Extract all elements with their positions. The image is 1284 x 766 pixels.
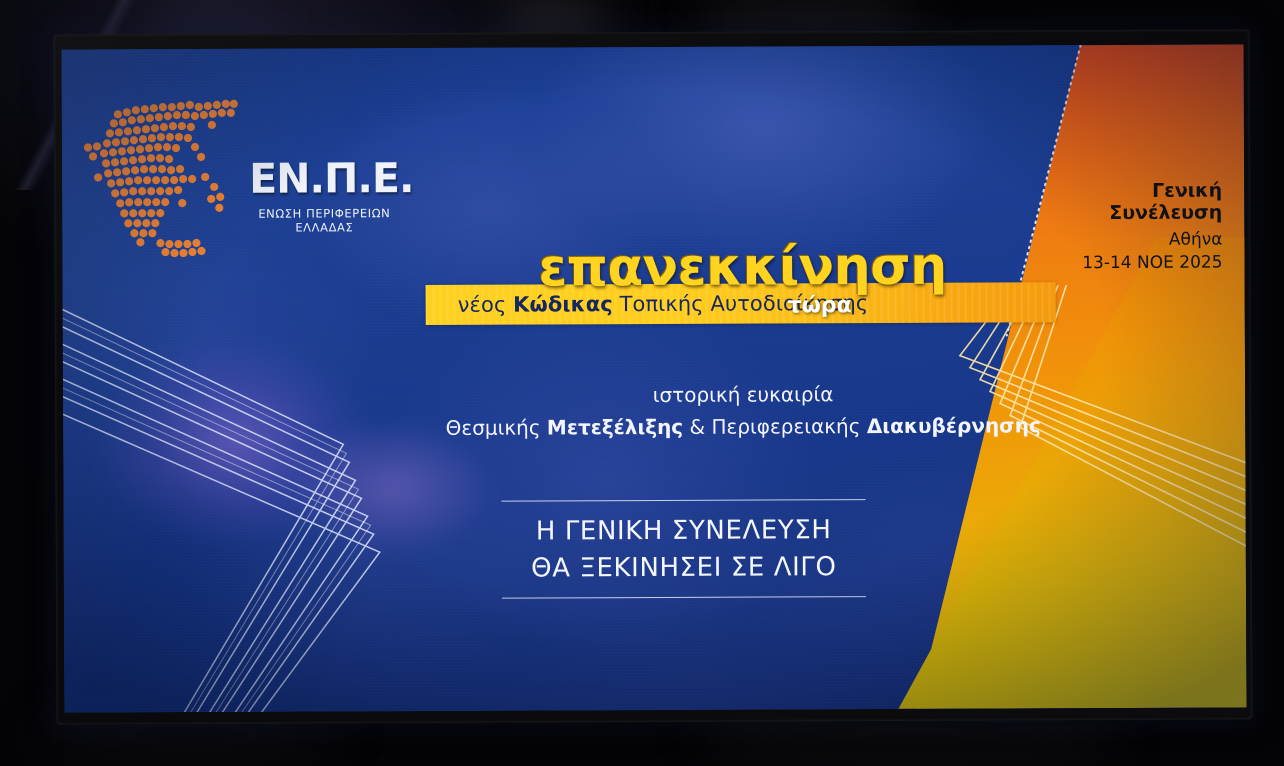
event-city: Αθήνα xyxy=(1012,227,1222,253)
headline-block: επανεκκίνηση τώρα xyxy=(362,240,1122,295)
greece-dotted-map-icon xyxy=(82,81,258,272)
status-line2: ΘΑ ΞΕΚΙΝΗΣΕΙ ΣΕ ΛΙΓΟ xyxy=(474,549,894,588)
event-info-block: Γενική Συνέλευση Αθήνα 13-14 ΝΟΕ 2025 xyxy=(1012,181,1222,275)
enpe-acronym-block: ΕΝ.Π.Ε. ΕΝΩΣΗ ΠΕΡΙΦΕΡΕΙΩΝ ΕΛΛΑΔΑΣ xyxy=(249,158,399,235)
event-title-line1: Γενική xyxy=(1012,181,1222,204)
television-bezel: νέος Κώδικας Τοπικής Αυτοδιοίκησης xyxy=(54,29,1253,724)
headline-main: επανεκκίνηση xyxy=(362,240,1122,295)
event-dates: 13-14 ΝΟΕ 2025 xyxy=(1012,252,1222,275)
subtitle-line2-b: Μετεξέλιξης xyxy=(547,415,683,440)
status-block: Η ΓΕΝΙΚΗ ΣΥΝΕΛΕΥΣΗ ΘΑ ΞΕΚΙΝΗΣΕΙ ΣΕ ΛΙΓΟ xyxy=(474,499,894,599)
status-line1: Η ΓΕΝΙΚΗ ΣΥΝΕΛΕΥΣΗ xyxy=(474,512,894,551)
banner-prefix: νέος xyxy=(458,293,514,317)
subtitle-line2-c: & Περιφερειακής xyxy=(683,414,867,439)
subtitle-block: ιστορική ευκαιρία Θεσμικής Μετεξέλιξης &… xyxy=(313,380,1173,444)
status-lines: Η ΓΕΝΙΚΗ ΣΥΝΕΛΕΥΣΗ ΘΑ ΞΕΚΙΝΗΣΕΙ ΣΕ ΛΙΓΟ xyxy=(474,500,894,598)
enpe-subtitle-line1: ΕΝΩΣΗ ΠΕΡΙΦΕΡΕΙΩΝ xyxy=(249,206,399,221)
subtitle-line2: Θεσμικής Μετεξέλιξης & Περιφερειακής Δια… xyxy=(313,411,1173,444)
enpe-acronym: ΕΝ.Π.Ε. xyxy=(249,158,399,200)
event-title-line2: Συνέλευση xyxy=(1012,202,1222,225)
subtitle-line1: ιστορική ευκαιρία xyxy=(313,380,1173,411)
headline-now: τώρα xyxy=(788,293,852,318)
subtitle-line2-a: Θεσμικής xyxy=(446,415,547,439)
presentation-screen: νέος Κώδικας Τοπικής Αυτοδιοίκησης xyxy=(62,44,1247,712)
enpe-subtitle-line2: ΕΛΛΑΔΑΣ xyxy=(249,220,399,235)
subtitle-line2-d: Διακυβέρνησης xyxy=(867,413,1041,438)
room-photo: νέος Κώδικας Τοπικής Αυτοδιοίκησης xyxy=(0,0,1284,766)
